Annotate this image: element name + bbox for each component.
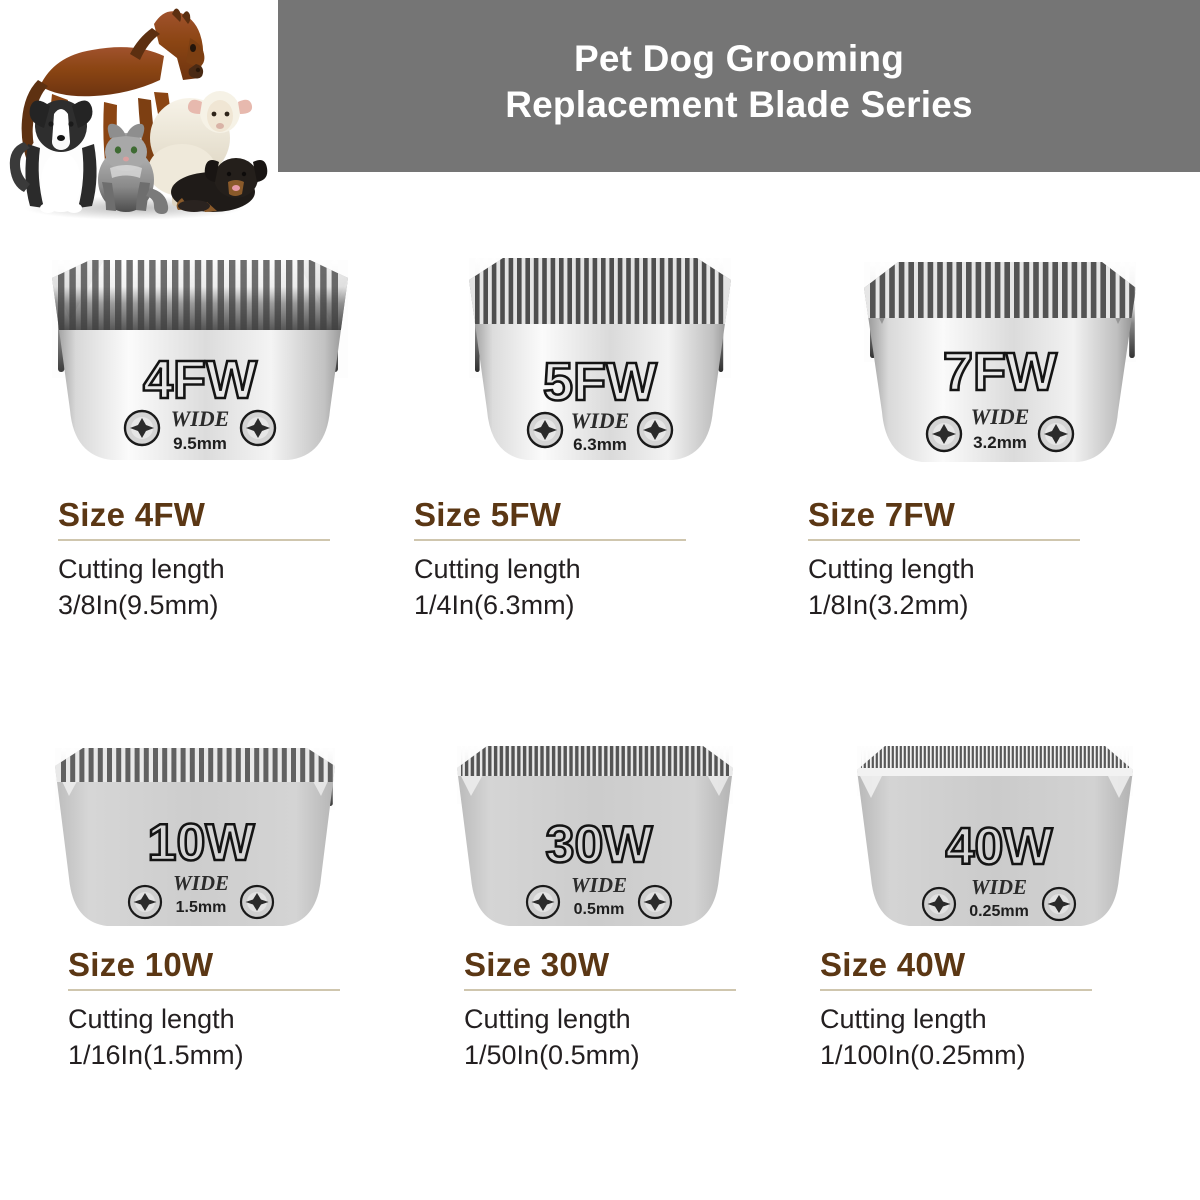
blade-cut-value-5fw: 1/4In(6.3mm): [414, 588, 800, 624]
blade-screw-left-7fw: [927, 417, 961, 451]
blade-mm-label-5fw: 6.3mm: [573, 435, 627, 454]
blade-card-40w: 40W WIDE 0.25mm: [800, 712, 1200, 1200]
caption-rule: [464, 989, 736, 991]
blade-size-title-30w: Size 30W: [464, 948, 800, 983]
blade-cut-value-7fw: 1/8In(3.2mm): [808, 588, 1200, 624]
blade-cut-label-4fw: Cutting length: [58, 552, 400, 588]
caption-rule: [58, 539, 330, 541]
blade-size-title-4fw: Size 4FW: [58, 498, 400, 533]
blade-svg-4fw: 4FW WIDE 9.5mm: [30, 238, 370, 498]
blade-cut-label-7fw: Cutting length: [808, 552, 1200, 588]
blade-image-40w: 40W WIDE 0.25mm: [800, 712, 1200, 948]
blade-cut-value-10w: 1/16In(1.5mm): [68, 1038, 400, 1074]
blade-mm-label-30w: 0.5mm: [574, 901, 625, 918]
blade-mm-label-4fw: 9.5mm: [173, 434, 227, 453]
blade-screw-right-4fw: [241, 411, 275, 445]
blade-face-label-7fw: 7FW: [943, 342, 1057, 402]
blade-face-label-10w: 10W: [148, 814, 256, 872]
blade-mm-label-7fw: 3.2mm: [973, 433, 1027, 452]
blade-face-label-5fw: 5FW: [543, 352, 657, 412]
product-infographic: Pet Dog Grooming Replacement Blade Serie…: [0, 0, 1200, 1200]
header-banner: Pet Dog Grooming Replacement Blade Serie…: [278, 0, 1200, 172]
blade-svg-10w: 10W WIDE 1.5mm: [35, 728, 365, 948]
blade-card-4fw: 4FW WIDE 9.5mm: [0, 226, 400, 716]
blade-screw-left-5fw: [528, 413, 562, 447]
blade-screw-right-40w: [1043, 888, 1075, 920]
page-title: Pet Dog Grooming Replacement Blade Serie…: [505, 36, 973, 137]
blade-size-title-40w: Size 40W: [820, 948, 1200, 983]
blade-row-bottom: 10W WIDE 1.5mm: [0, 712, 1200, 1200]
blade-size-title-7fw: Size 7FW: [808, 498, 1200, 533]
blade-screw-left-10w: [129, 886, 161, 918]
blade-caption-10w: Size 10W Cutting length 1/16In(1.5mm): [0, 948, 400, 1073]
blade-face-label-4fw: 4FW: [143, 350, 257, 410]
blade-cut-label-40w: Cutting length: [820, 1002, 1200, 1038]
blade-caption-4fw: Size 4FW Cutting length 3/8In(9.5mm): [0, 498, 400, 623]
caption-rule: [414, 539, 686, 541]
blade-svg-40w: 40W WIDE 0.25mm: [835, 728, 1165, 948]
blade-wide-label-30w: WIDE: [571, 873, 627, 897]
blade-cut-label-10w: Cutting length: [68, 1002, 400, 1038]
blade-wide-label-40w: WIDE: [971, 875, 1027, 899]
blade-screw-right-5fw: [638, 413, 672, 447]
blade-card-10w: 10W WIDE 1.5mm: [0, 712, 400, 1200]
blade-wide-label-10w: WIDE: [173, 871, 229, 895]
blade-grid: 4FW WIDE 9.5mm: [0, 172, 1200, 1200]
blade-card-5fw: 5FW WIDE 6.3mm: [400, 226, 800, 716]
blade-cut-value-30w: 1/50In(0.5mm): [464, 1038, 800, 1074]
caption-rule: [820, 989, 1092, 991]
blade-card-7fw: 7FW WIDE 3.2mm: [800, 226, 1200, 716]
blade-cut-label-5fw: Cutting length: [414, 552, 800, 588]
blade-cut-label-30w: Cutting length: [464, 1002, 800, 1038]
blade-image-7fw: 7FW WIDE 3.2mm: [800, 226, 1200, 498]
blade-size-title-5fw: Size 5FW: [414, 498, 800, 533]
blade-caption-5fw: Size 5FW Cutting length 1/4In(6.3mm): [400, 498, 800, 623]
blade-face-label-40w: 40W: [946, 818, 1054, 876]
caption-rule: [808, 539, 1080, 541]
blade-card-30w: 30W WIDE 0.5mm: [400, 712, 800, 1200]
blade-mm-label-40w: 0.25mm: [969, 903, 1029, 920]
blade-wide-label-7fw: WIDE: [971, 404, 1030, 429]
blade-wide-label-4fw: WIDE: [171, 406, 230, 431]
page-title-line-2: Replacement Blade Series: [505, 82, 973, 128]
blade-row-top: 4FW WIDE 9.5mm: [0, 226, 1200, 726]
blade-wide-label-5fw: WIDE: [571, 408, 630, 433]
caption-rule: [68, 989, 340, 991]
blade-screw-right-7fw: [1039, 417, 1073, 451]
blade-svg-5fw: 5FW WIDE 6.3mm: [445, 238, 755, 498]
blade-svg-30w: 30W WIDE 0.5mm: [435, 728, 765, 948]
blade-screw-right-30w: [639, 886, 671, 918]
blade-image-4fw: 4FW WIDE 9.5mm: [0, 226, 400, 498]
blade-caption-40w: Size 40W Cutting length 1/100In(0.25mm): [800, 948, 1200, 1073]
blade-face-label-30w: 30W: [546, 816, 654, 874]
blade-image-30w: 30W WIDE 0.5mm: [400, 712, 800, 948]
blade-caption-30w: Size 30W Cutting length 1/50In(0.5mm): [400, 948, 800, 1073]
blade-mm-label-10w: 1.5mm: [176, 899, 227, 916]
blade-screw-left-4fw: [125, 411, 159, 445]
blade-cut-value-4fw: 3/8In(9.5mm): [58, 588, 400, 624]
blade-screw-left-40w: [923, 888, 955, 920]
blade-size-title-10w: Size 10W: [68, 948, 400, 983]
blade-screw-left-30w: [527, 886, 559, 918]
blade-svg-7fw: 7FW WIDE 3.2mm: [840, 238, 1160, 498]
blade-image-5fw: 5FW WIDE 6.3mm: [400, 226, 800, 498]
blade-cut-value-40w: 1/100In(0.25mm): [820, 1038, 1200, 1074]
page-title-line-1: Pet Dog Grooming: [505, 36, 973, 82]
blade-caption-7fw: Size 7FW Cutting length 1/8In(3.2mm): [800, 498, 1200, 623]
blade-screw-right-10w: [241, 886, 273, 918]
blade-image-10w: 10W WIDE 1.5mm: [0, 712, 400, 948]
